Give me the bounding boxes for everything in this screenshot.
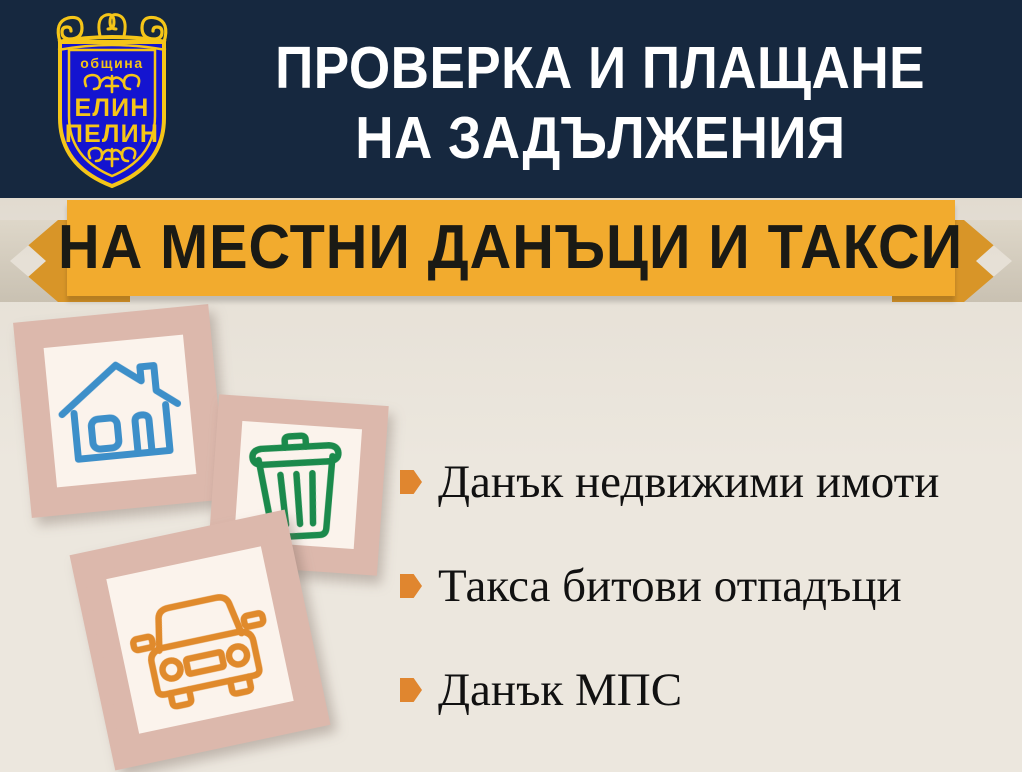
- list-item[interactable]: Такса битови отпадъци: [400, 534, 1010, 638]
- logo-name-line-2: ПЕЛИН: [65, 120, 159, 148]
- ribbon-label: НА МЕСТНИ ДАНЪЦИ И ТАКСИ: [59, 217, 964, 279]
- arrow-bullet-icon: [400, 678, 422, 702]
- stamp-card-car: [70, 510, 331, 771]
- poster-root: община ЕЛИН ПЕЛИН: [0, 0, 1022, 772]
- header-banner: община ЕЛИН ПЕЛИН: [0, 0, 1022, 198]
- subtitle-ribbon: НА МЕСТНИ ДАНЪЦИ И ТАКСИ: [0, 198, 1022, 306]
- arrow-bullet-icon: [400, 574, 422, 598]
- tax-type-list: Данък недвижими имоти Такса битови отпад…: [400, 430, 1010, 742]
- logo-municipality-word: община: [80, 55, 143, 71]
- ribbon-panel: НА МЕСТНИ ДАНЪЦИ И ТАКСИ: [67, 200, 955, 296]
- stamp-card-house: [13, 304, 227, 518]
- list-item[interactable]: Данък МПС: [400, 638, 1010, 742]
- logo-name-line-1: ЕЛИН: [74, 94, 149, 122]
- list-item-label: Данък недвижими имоти: [438, 456, 939, 508]
- list-item-label: Данък МПС: [438, 664, 682, 716]
- list-item-label: Такса битови отпадъци: [438, 560, 902, 612]
- page-title: ПРОВЕРКА И ПЛАЩАНЕ НА ЗАДЪЛЖЕНИЯ: [190, 14, 1010, 192]
- arrow-bullet-icon: [400, 470, 422, 494]
- page-title-line-1: ПРОВЕРКА И ПЛАЩАНЕ: [275, 33, 925, 103]
- municipality-coat-of-arms: община ЕЛИН ПЕЛИН: [38, 6, 186, 192]
- page-title-line-2: НА ЗАДЪЛЖЕНИЯ: [355, 103, 845, 173]
- list-item[interactable]: Данък недвижими имоти: [400, 430, 1010, 534]
